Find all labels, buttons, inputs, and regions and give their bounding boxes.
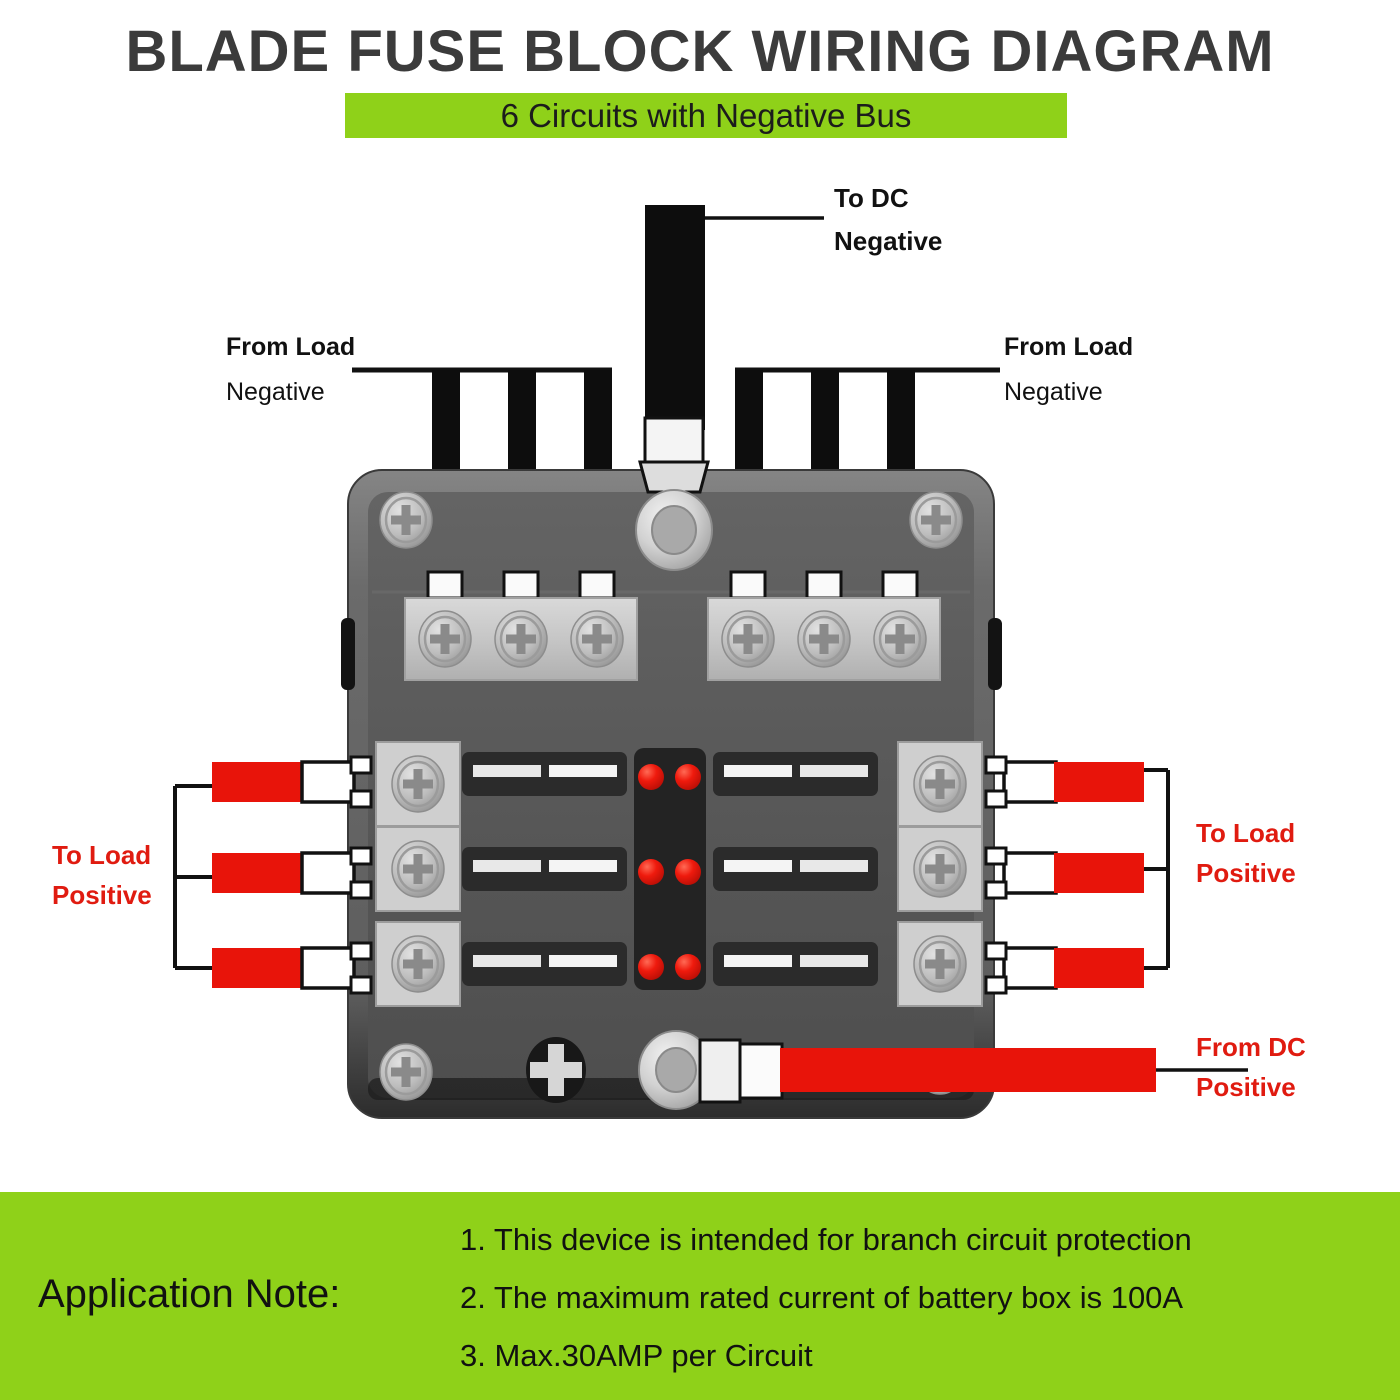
case-latch-left — [341, 618, 355, 690]
led-row2-left — [638, 859, 664, 885]
positive-lead-right-1 — [1054, 762, 1144, 802]
note-item-3: 3. Max.30AMP per Circuit — [460, 1338, 1380, 1374]
fuse-blade-left-3b — [549, 955, 617, 967]
negative-post-ferrule — [645, 418, 703, 462]
spade-l1 — [428, 572, 462, 598]
spade-r1 — [731, 572, 765, 598]
led-row1-left — [638, 764, 664, 790]
callout-to-load-positive-right-line1: To Load — [1196, 818, 1295, 849]
led-row1-right — [675, 764, 701, 790]
bus-screw-left-1 — [419, 611, 471, 667]
positive-lead-left-2-insul — [302, 853, 354, 893]
polarity-plus-mark — [526, 1037, 586, 1103]
positive-lead-right-3-insul — [1004, 948, 1056, 988]
bus-screw-right-1 — [722, 611, 774, 667]
fork-left-3a — [351, 943, 371, 959]
led-row3-right — [675, 954, 701, 980]
case-latch-right — [988, 618, 1002, 690]
fuse-blade-right-1b — [800, 765, 868, 777]
load-positive-right-wires — [986, 757, 1168, 993]
callout-from-load-negative-left-line1: From Load — [226, 333, 355, 362]
positive-lead-left-2 — [212, 853, 302, 893]
negative-bus-strip-left — [405, 598, 637, 680]
positive-wire-ferrule-a — [700, 1040, 740, 1102]
positive-lead-right-3 — [1054, 948, 1144, 988]
spade-l3 — [580, 572, 614, 598]
positive-screw-left-2 — [392, 841, 444, 897]
positive-screw-left-1 — [392, 756, 444, 812]
callout-to-dc-negative-line2: Negative — [834, 226, 942, 257]
fork-right-3b — [986, 977, 1006, 993]
fork-left-3b — [351, 977, 371, 993]
fuse-blade-left-2b — [549, 860, 617, 872]
callout-to-load-positive-left-line1: To Load — [52, 840, 151, 871]
fork-right-1b — [986, 791, 1006, 807]
callout-from-load-negative-right-line1: From Load — [1004, 333, 1133, 362]
bus-screw-right-3 — [874, 611, 926, 667]
positive-lead-left-1 — [212, 762, 302, 802]
fork-left-1b — [351, 791, 371, 807]
negative-post-ring — [652, 506, 696, 554]
fuse-blade-right-3a — [724, 955, 792, 967]
fuse-blade-left-1b — [549, 765, 617, 777]
fuse-blade-left-1a — [473, 765, 541, 777]
spade-l2 — [504, 572, 538, 598]
bus-spades-right — [731, 572, 917, 598]
application-note-list: 1. This device is intended for branch ci… — [460, 1222, 1380, 1396]
positive-screw-right-3 — [914, 936, 966, 992]
positive-lead-left-3-insul — [302, 948, 354, 988]
fuse-blade-right-1a — [724, 765, 792, 777]
mounting-screw-bottom-left — [380, 1044, 432, 1100]
fuse-blade-right-2b — [800, 860, 868, 872]
positive-lead-right-2-insul — [1004, 853, 1056, 893]
fork-right-3a — [986, 943, 1006, 959]
callout-from-load-negative-right-line2: Negative — [1004, 378, 1103, 407]
bus-screw-left-2 — [495, 611, 547, 667]
fork-right-2b — [986, 882, 1006, 898]
led-row3-left — [638, 954, 664, 980]
load-positive-left-wires — [175, 757, 371, 993]
mounting-screw-top-right — [910, 492, 962, 548]
positive-lead-left-3 — [212, 948, 302, 988]
spade-r2 — [807, 572, 841, 598]
fork-right-2a — [986, 848, 1006, 864]
fork-left-1a — [351, 757, 371, 773]
fork-left-2a — [351, 848, 371, 864]
fork-right-1a — [986, 757, 1006, 773]
positive-screw-right-2 — [914, 841, 966, 897]
callout-to-load-positive-left-line2: Positive — [52, 880, 152, 911]
bus-screw-right-2 — [798, 611, 850, 667]
positive-lead-right-1-insul — [1004, 762, 1056, 802]
dc-positive-wire — [780, 1048, 1156, 1092]
dc-negative-wire — [645, 205, 705, 430]
fork-left-2b — [351, 882, 371, 898]
dc-negative-wire-group — [645, 205, 824, 430]
fuse-blade-left-2a — [473, 860, 541, 872]
bus-screw-left-3 — [571, 611, 623, 667]
positive-wire-ferrule-b — [740, 1044, 782, 1098]
callout-from-load-negative-left-line2: Negative — [226, 378, 325, 407]
led-row2-right — [675, 859, 701, 885]
bus-spades-left — [428, 572, 614, 598]
application-note-title: Application Note: — [38, 1272, 340, 1317]
mounting-screw-top-left — [380, 492, 432, 548]
negative-post-collar — [640, 462, 708, 492]
note-item-2: 2. The maximum rated current of battery … — [460, 1280, 1380, 1316]
note-item-1: 1. This device is intended for branch ci… — [460, 1222, 1380, 1258]
callout-from-dc-positive-line2: Positive — [1196, 1072, 1296, 1103]
positive-screw-right-1 — [914, 756, 966, 812]
wiring-diagram-svg — [0, 0, 1400, 1400]
fuse-blade-right-3b — [800, 955, 868, 967]
callout-to-dc-negative-line1: To DC — [834, 183, 909, 214]
diagram-page: BLADE FUSE BLOCK WIRING DIAGRAM 6 Circui… — [0, 0, 1400, 1400]
spade-r3 — [883, 572, 917, 598]
negative-bus-strip-right — [708, 598, 940, 680]
fuse-blade-right-2a — [724, 860, 792, 872]
positive-screw-left-3 — [392, 936, 444, 992]
positive-post-ring — [656, 1048, 696, 1092]
callout-to-load-positive-right-line2: Positive — [1196, 858, 1296, 889]
callout-from-dc-positive-line1: From DC — [1196, 1032, 1306, 1063]
positive-lead-right-2 — [1054, 853, 1144, 893]
fuse-blade-left-3a — [473, 955, 541, 967]
positive-lead-left-1-insul — [302, 762, 354, 802]
